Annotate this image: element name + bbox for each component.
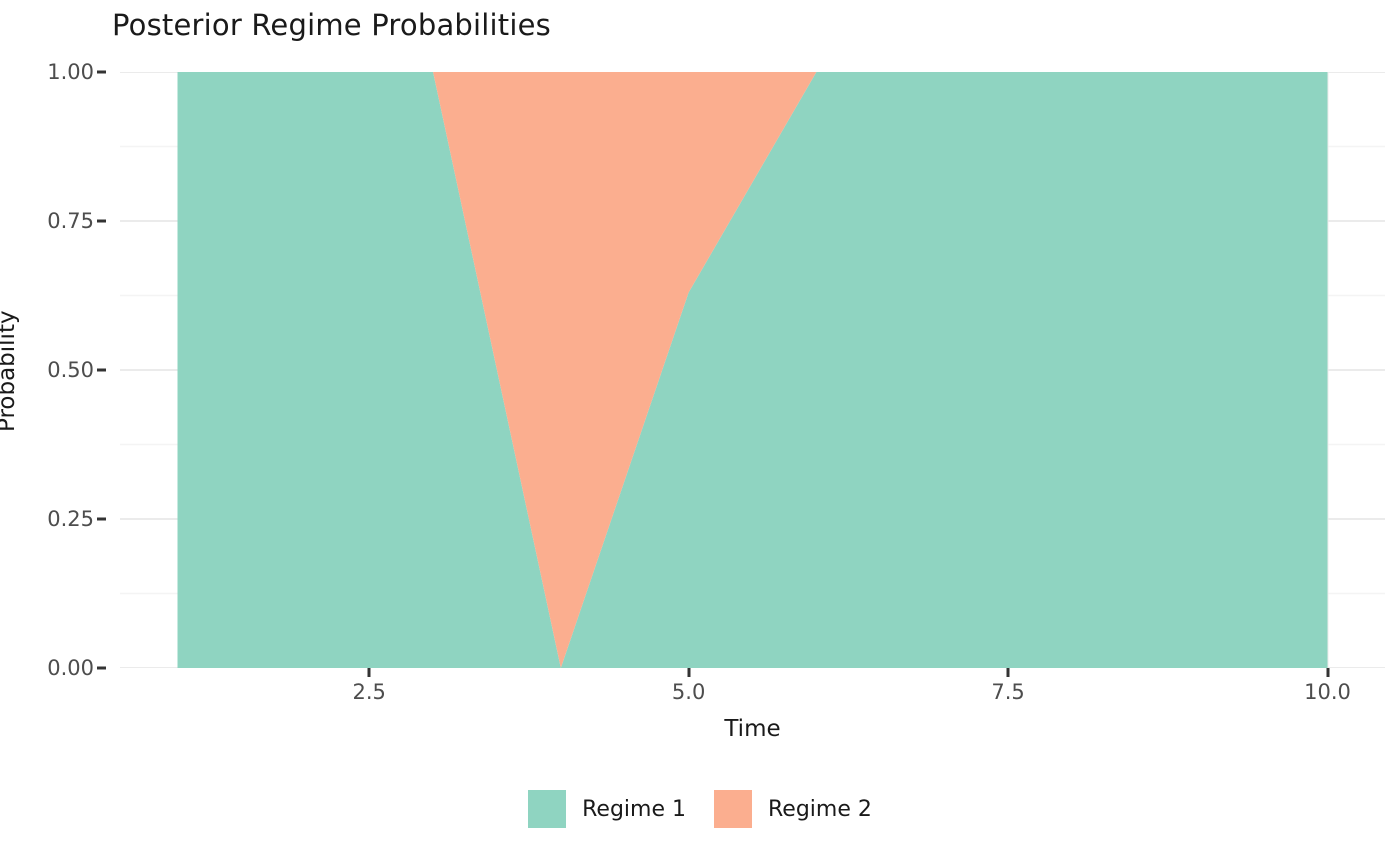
chart-root: Posterior Regime Probabilities Probabili… <box>0 0 1400 866</box>
x-tick-mark <box>687 668 690 677</box>
page-title: Posterior Regime Probabilities <box>112 8 551 42</box>
y-tick-label: 0.00 <box>47 656 94 680</box>
plot-panel <box>120 72 1385 668</box>
y-tick-mark <box>97 518 106 521</box>
y-tick-mark <box>97 220 106 223</box>
y-tick-label: 0.25 <box>47 507 94 531</box>
legend-item-regime-2[interactable]: Regime 2 <box>714 790 872 828</box>
y-tick-mark <box>97 667 106 670</box>
y-tick-label: 0.75 <box>47 209 94 233</box>
x-tick-label: 7.5 <box>991 680 1024 704</box>
legend-label: Regime 2 <box>768 797 872 822</box>
x-tick-label: 2.5 <box>352 680 385 704</box>
x-tick-mark <box>1326 668 1329 677</box>
legend-swatch-icon <box>714 790 752 828</box>
y-tick-mark <box>97 369 106 372</box>
x-tick-mark <box>1007 668 1010 677</box>
x-tick-mark <box>368 668 371 677</box>
x-tick-label: 5.0 <box>672 680 705 704</box>
y-axis-title: Probability <box>0 310 20 432</box>
legend-label: Regime 1 <box>582 797 686 822</box>
legend-item-regime-1[interactable]: Regime 1 <box>528 790 686 828</box>
y-tick-mark <box>97 71 106 74</box>
x-axis-title: Time <box>120 716 1385 742</box>
x-tick-label: 10.0 <box>1304 680 1351 704</box>
y-axis: Probability 0.000.250.500.751.00 <box>0 72 120 668</box>
area-series-group <box>178 72 1328 668</box>
y-tick-label: 1.00 <box>47 60 94 84</box>
chart-legend: Regime 1Regime 2 <box>0 790 1400 828</box>
plot-area <box>120 72 1385 668</box>
legend-swatch-icon <box>528 790 566 828</box>
y-tick-label: 0.50 <box>47 358 94 382</box>
